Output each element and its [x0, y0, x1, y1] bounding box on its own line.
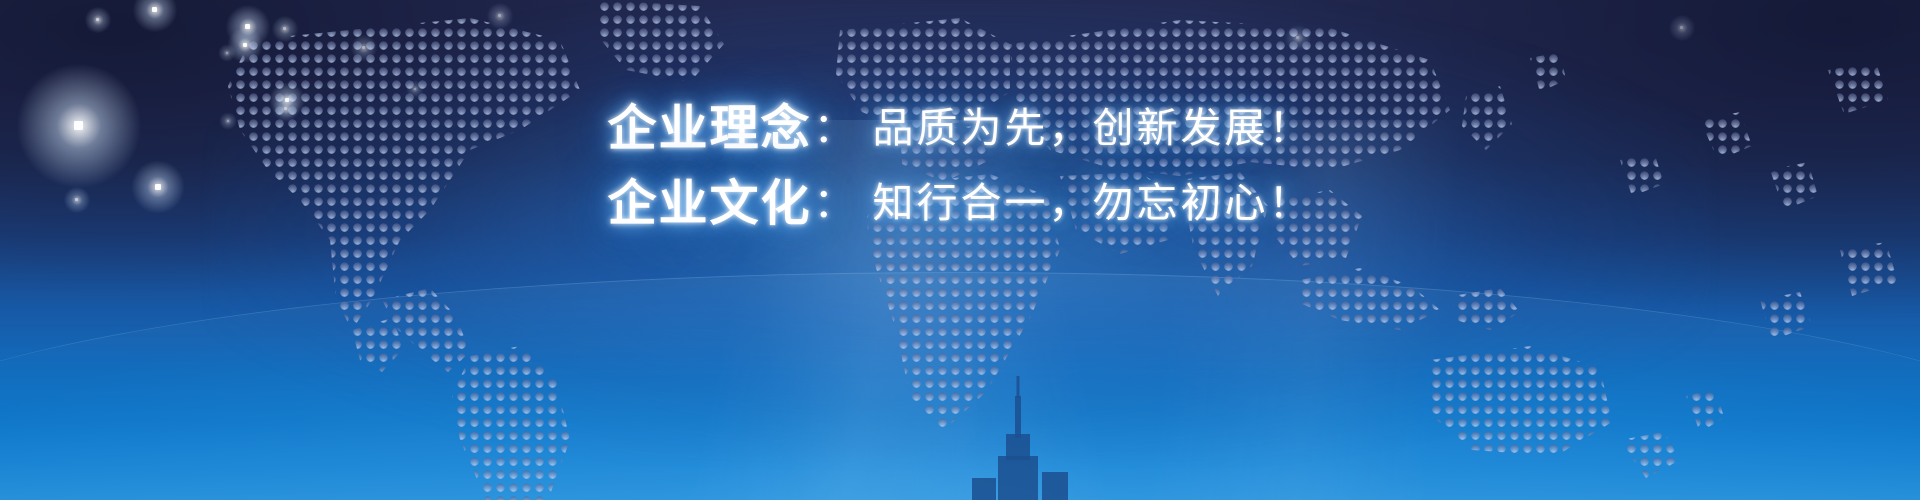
star-icon: [1680, 26, 1683, 29]
city-skyline-silhouette: [0, 360, 1920, 500]
corporate-philosophy-banner: 企业理念：品质为先，创新发展！ 企业文化：知行合一，勿忘初心！: [0, 0, 1920, 500]
star-icon: [226, 52, 228, 54]
star-icon: [243, 43, 247, 47]
philosophy-value: 品质为先，创新发展！: [873, 108, 1313, 149]
star-icon: [96, 18, 99, 21]
star-icon: [414, 88, 416, 90]
headline-block: 企业理念：品质为先，创新发展！ 企业文化：知行合一，勿忘初心！: [0, 104, 1920, 228]
culture-value: 知行合一，勿忘初心！: [873, 183, 1313, 224]
star-icon: [152, 7, 157, 12]
philosophy-colon: ：: [814, 108, 855, 149]
culture-colon: ：: [814, 183, 855, 224]
star-icon: [283, 27, 286, 30]
star-icon: [362, 46, 365, 49]
culture-label: 企业文化: [607, 179, 811, 228]
star-icon: [498, 14, 501, 17]
star-icon: [1296, 36, 1299, 39]
headline-line-2: 企业文化：知行合一，勿忘初心！: [0, 179, 1920, 228]
philosophy-label: 企业理念: [607, 104, 811, 153]
headline-line-1: 企业理念：品质为先，创新发展！: [0, 104, 1920, 153]
